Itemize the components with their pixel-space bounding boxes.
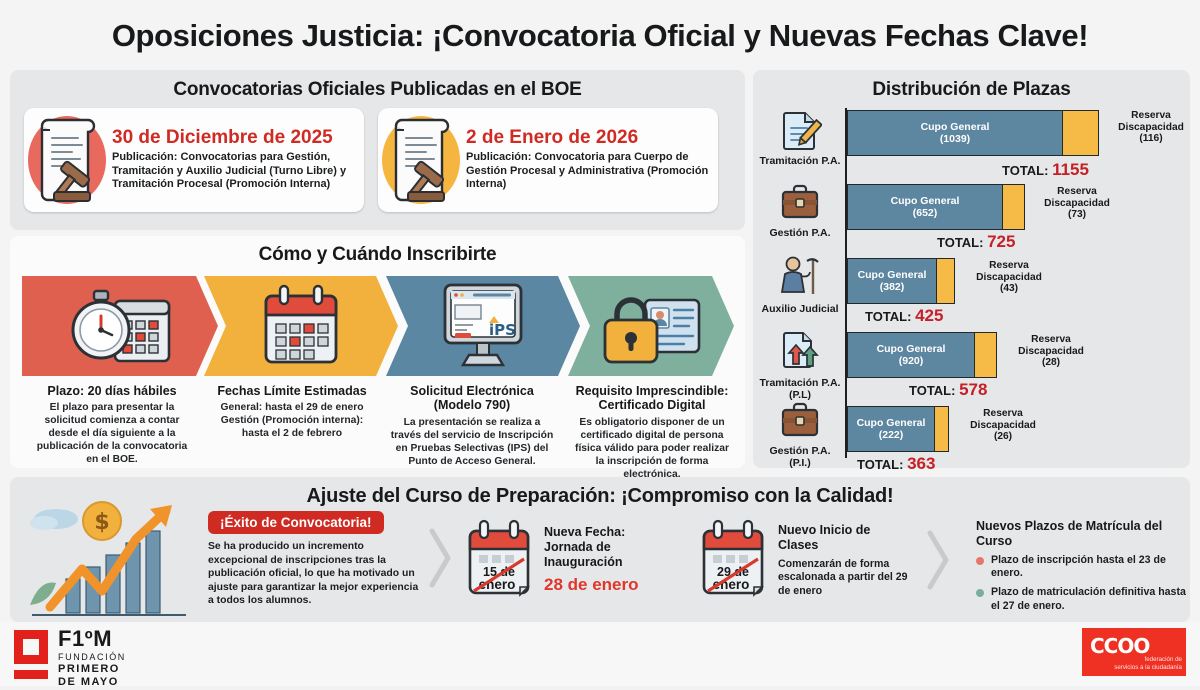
chart-row-2: Gestión P.A. Cupo General (652) Reserva …: [757, 184, 1187, 254]
chart-row-5-total-label: TOTAL:: [857, 457, 903, 472]
ajuste-item-1-highlight: 28 de enero: [544, 575, 666, 595]
chart-row-2-bars: Cupo General (652): [847, 184, 1025, 230]
f1m-wordmark: F1ºM FUNDACIÓN PRIMERO DE MAYO: [58, 628, 126, 690]
chart-row-3-general-label: Cupo General: [858, 269, 927, 281]
chart-row-5: Gestión P.A. (P.I.) Cupo General (222) R…: [757, 406, 1187, 466]
boe-card-row: 30 de Diciembre de 2025 Publicación: Con…: [24, 108, 718, 212]
plazos-block: Nuevos Plazos de Matrícula del Curso Pla…: [976, 519, 1190, 619]
chart-row-4-reserva-label: Reserva Discapacidad: [1005, 334, 1097, 357]
boe-card-1-desc: Publicación: Convocatorias para Gestión,…: [112, 151, 356, 192]
chart-row-1-total-value: 1155: [1052, 160, 1089, 179]
plazas-panel: Distribución de Plazas Tramitación P.A.: [753, 70, 1190, 468]
ajuste-item-2-title: Nuevo Inicio de Clases: [778, 523, 914, 553]
calendar-icon: [258, 284, 344, 368]
chart-row-4-general-label: Cupo General: [877, 343, 946, 355]
boe-card-2-text: 2 de Enero de 2026 Publicación: Convocat…: [466, 128, 718, 192]
step-chevron-1: [22, 276, 218, 376]
chart-row-4-reserva-value: (28): [1005, 357, 1097, 369]
boe-card-1-date: 30 de Diciembre de 2025: [112, 128, 356, 148]
f1m-line1: FUNDACIÓN: [58, 652, 126, 663]
step-3-body: La presentación se realiza a través del …: [390, 417, 554, 469]
chart-row-1-general-bar: Cupo General (1039): [847, 110, 1063, 156]
f1m-mark: F1ºM: [58, 628, 126, 650]
plazos-bullet-1-text: Plazo de inscripción hasta el 23 de ener…: [991, 554, 1166, 580]
step-text-3: Solicitud Electrónica (Modelo 790) La pr…: [382, 384, 562, 482]
chevron-right-separator-1: [428, 527, 454, 589]
chart-row-3: Auxilio Judicial Cupo General (382) Rese…: [757, 258, 1187, 328]
chart-row-1-label: Tramitación P.A.: [757, 156, 843, 168]
chart-row-1-general-label: Cupo General: [921, 121, 990, 133]
growth-chart-dollar-icon: $: [16, 487, 206, 619]
infographic-page: Oposiciones Justicia: ¡Convocatoria Ofic…: [0, 0, 1200, 686]
scroll-gavel-icon: [24, 110, 112, 210]
chart-row-5-reserva-label: Reserva Discapacidad: [957, 408, 1049, 431]
step-text-2: Fechas Límite Estimadas General: hasta e…: [202, 384, 382, 482]
exito-badge: ¡Éxito de Convocatoria!: [208, 511, 384, 534]
chart-row-2-general-bar: Cupo General (652): [847, 184, 1003, 230]
chart-row-3-bars: Cupo General (382): [847, 258, 955, 304]
f1m-bar-icon: [14, 670, 48, 679]
chart-row-5-general-value: (222): [879, 429, 904, 441]
ajuste-item-2-body: Comenzarán de forma escalonada a partir …: [778, 558, 914, 599]
ccoo-mark: CCOO: [1090, 634, 1149, 658]
briefcase-icon: [778, 184, 822, 222]
bullet-dot-icon: [976, 589, 984, 597]
chart-row-1: Tramitación P.A. Cupo General (1039) Res…: [757, 108, 1187, 178]
steps-text-row: Plazo: 20 días hábiles El plazo para pre…: [22, 384, 742, 482]
chart-title: Distribución de Plazas: [753, 70, 1190, 101]
chart-row-2-general-value: (652): [913, 207, 938, 219]
chart-row-1-reserva-caption: Reserva Discapacidad (116): [1107, 110, 1195, 145]
step-1-title: Plazo: 20 días hábiles: [30, 384, 194, 398]
chart-row-4-total-label: TOTAL:: [909, 383, 955, 398]
bullet-dot-icon: [976, 557, 984, 565]
chart-row-4: Tramitación P.A. (P.L) Cupo General (920…: [757, 332, 1187, 402]
inscribirte-panel: Cómo y Cuándo Inscribirte: [10, 236, 745, 468]
monitor-ips-icon: iPS: [433, 281, 533, 371]
boe-panel: Convocatorias Oficiales Publicadas en el…: [10, 70, 745, 230]
chart-row-1-reserva-label: Reserva Discapacidad: [1107, 110, 1195, 133]
ccoo-sub-line2: servicios a la ciudadanía: [1090, 664, 1182, 672]
step-text-1: Plazo: 20 días hábiles El plazo para pre…: [22, 384, 202, 482]
chart-row-1-total: TOTAL: 1155: [1002, 160, 1089, 180]
chart-row-1-total-label: TOTAL:: [1002, 163, 1048, 178]
exito-text: Se ha producido un incremento excepciona…: [208, 540, 423, 608]
exito-block: ¡Éxito de Convocatoria! Se ha producido …: [208, 511, 423, 608]
chart-row-5-icon-group: Gestión P.A. (P.I.): [757, 402, 843, 469]
stopwatch-calendar-icon: [67, 285, 173, 367]
chart-row-3-total: TOTAL: 425: [865, 306, 943, 326]
plazas-bar-chart: Tramitación P.A. Cupo General (1039) Res…: [757, 106, 1187, 462]
chart-row-4-total: TOTAL: 578: [909, 380, 987, 400]
step-chevron-3: iPS: [386, 276, 580, 376]
chart-row-3-reserva-bar: [937, 258, 955, 304]
boe-card-2: 2 de Enero de 2026 Publicación: Convocat…: [378, 108, 718, 212]
chart-row-5-total-value: 363: [907, 454, 935, 473]
svg-text:iPS: iPS: [489, 321, 516, 339]
chart-row-5-total: TOTAL: 363: [857, 454, 935, 474]
chart-row-4-general-bar: Cupo General (920): [847, 332, 975, 378]
chart-row-3-total-label: TOTAL:: [865, 309, 911, 324]
chart-row-4-reserva-caption: Reserva Discapacidad (28): [1005, 334, 1097, 369]
step-chevron-2: [204, 276, 398, 376]
chart-row-5-reserva-caption: Reserva Discapacidad (26): [957, 408, 1049, 443]
step-chevron-4: [568, 276, 734, 376]
chart-row-1-bars: Cupo General (1039): [847, 110, 1099, 156]
chart-row-1-icon-group: Tramitación P.A.: [757, 110, 843, 168]
chart-row-3-general-value: (382): [880, 281, 905, 293]
chart-row-4-reserva-bar: [975, 332, 997, 378]
chart-row-1-reserva-value: (116): [1107, 133, 1195, 145]
calendar-crossed-icon: 15 de enero: [462, 519, 536, 599]
chart-row-2-reserva-label: Reserva Discapacidad: [1033, 186, 1121, 209]
chart-row-2-icon-group: Gestión P.A.: [757, 184, 843, 240]
boe-card-2-date: 2 de Enero de 2026: [466, 128, 710, 148]
boe-card-1: 30 de Diciembre de 2025 Publicación: Con…: [24, 108, 364, 212]
step-1-body: El plazo para presentar la solicitud com…: [30, 402, 194, 467]
scroll-gavel-glyph: [38, 116, 100, 204]
chart-row-4-bars: Cupo General (920): [847, 332, 997, 378]
ajuste-item-1-title: Nueva Fecha: Jornada de Inauguración: [544, 525, 666, 569]
plazos-title: Nuevos Plazos de Matrícula del Curso: [976, 519, 1190, 549]
padlock-id-card-icon: [599, 288, 703, 364]
chart-row-5-bars: Cupo General (222): [847, 406, 949, 452]
chart-row-2-general-label: Cupo General: [891, 195, 960, 207]
chart-row-2-label: Gestión P.A.: [757, 228, 843, 240]
svg-text:$: $: [94, 510, 109, 535]
chart-row-2-total-label: TOTAL:: [937, 235, 983, 250]
chart-row-3-general-bar: Cupo General (382): [847, 258, 937, 304]
chart-row-5-general-bar: Cupo General (222): [847, 406, 935, 452]
chart-row-4-general-value: (920): [899, 355, 924, 367]
chart-row-3-reserva-value: (43): [963, 283, 1055, 295]
chart-row-1-reserva-bar: [1063, 110, 1099, 156]
chart-row-4-icon-group: Tramitación P.A. (P.L): [757, 330, 843, 401]
chart-row-2-reserva-caption: Reserva Discapacidad (73): [1033, 186, 1121, 221]
chart-row-3-reserva-label: Reserva Discapacidad: [963, 260, 1055, 283]
ccoo-sub-line1: federación de: [1090, 656, 1182, 664]
step-2-body: General: hasta el 29 de enero Gestión (P…: [210, 402, 374, 441]
scroll-gavel-glyph: [392, 116, 454, 204]
step-3-title: Solicitud Electrónica (Modelo 790): [390, 384, 554, 413]
calendar-crossed-icon: 29 de enero: [696, 519, 770, 599]
ajuste-item-2-text: Nuevo Inicio de Clases Comenzarán de for…: [778, 523, 914, 598]
plazos-bullet-1: Plazo de inscripción hasta el 23 de ener…: [976, 554, 1190, 582]
boe-card-1-text: 30 de Diciembre de 2025 Publicación: Con…: [112, 128, 364, 192]
f1m-line2: PRIMERO: [58, 663, 126, 676]
chart-row-3-total-value: 425: [915, 306, 943, 325]
chart-row-3-icon-group: Auxilio Judicial: [757, 256, 843, 316]
briefcase-icon: [778, 402, 822, 440]
step-4-body: Es obligatorio disponer de un certificad…: [570, 417, 734, 482]
ajuste-panel: Ajuste del Curso de Preparación: ¡Compro…: [10, 477, 1190, 622]
ccoo-logo: CCOO federación de servicios a la ciudad…: [1082, 628, 1186, 676]
inscribirte-heading: Cómo y Cuándo Inscribirte: [10, 236, 745, 266]
chevron-right-separator-2: [926, 529, 952, 591]
document-pencil-icon: [778, 110, 822, 150]
chart-row-1-general-value: (1039): [940, 133, 970, 145]
chart-row-2-reserva-value: (73): [1033, 209, 1121, 221]
plazos-bullet-2: Plazo de matriculación definitiva hasta …: [976, 586, 1190, 614]
ccoo-sub: federación de servicios a la ciudadanía: [1090, 656, 1182, 673]
boe-panel-heading: Convocatorias Oficiales Publicadas en el…: [10, 70, 745, 101]
chart-row-2-reserva-bar: [1003, 184, 1025, 230]
boe-card-2-desc: Publicación: Convocatoria para Cuerpo de…: [466, 151, 710, 192]
scroll-gavel-icon: [378, 110, 466, 210]
steps-chevron-row: iPS: [22, 276, 734, 376]
chart-row-3-label: Auxilio Judicial: [757, 304, 843, 316]
step-2-title: Fechas Límite Estimadas: [210, 384, 374, 398]
page-title: Oposiciones Justicia: ¡Convocatoria Ofic…: [0, 18, 1200, 54]
plazos-bullet-2-text: Plazo de matriculación definitiva hasta …: [991, 586, 1186, 612]
usher-person-icon: [777, 256, 823, 298]
ajuste-body: $ ¡Éxito de Convocatoria! Se ha producid…: [10, 513, 1190, 621]
ajuste-item-1-text: Nueva Fecha: Jornada de Inauguración 28 …: [544, 525, 666, 595]
chart-row-3-reserva-caption: Reserva Discapacidad (43): [963, 260, 1055, 295]
chart-row-2-total: TOTAL: 725: [937, 232, 1015, 252]
chart-row-4-label: Tramitación P.A. (P.L): [757, 378, 843, 401]
step-text-4: Requisito Imprescindible: Certificado Di…: [562, 384, 742, 482]
document-arrows-up-icon: [777, 330, 823, 372]
footer: F1ºM FUNDACIÓN PRIMERO DE MAYO CCOO fede…: [0, 622, 1200, 686]
chart-row-4-total-value: 578: [959, 380, 987, 399]
chart-row-5-reserva-bar: [935, 406, 949, 452]
chart-row-5-reserva-value: (26): [957, 431, 1049, 443]
chart-row-5-general-label: Cupo General: [857, 417, 926, 429]
step-4-title: Requisito Imprescindible: Certificado Di…: [570, 384, 734, 413]
chart-row-2-total-value: 725: [987, 232, 1015, 251]
f1m-line3: DE MAYO: [58, 676, 126, 689]
plazos-bullet-list: Plazo de inscripción hasta el 23 de ener…: [976, 554, 1190, 614]
chart-row-5-label: Gestión P.A. (P.I.): [757, 446, 843, 469]
f1m-square-icon: [14, 630, 48, 664]
